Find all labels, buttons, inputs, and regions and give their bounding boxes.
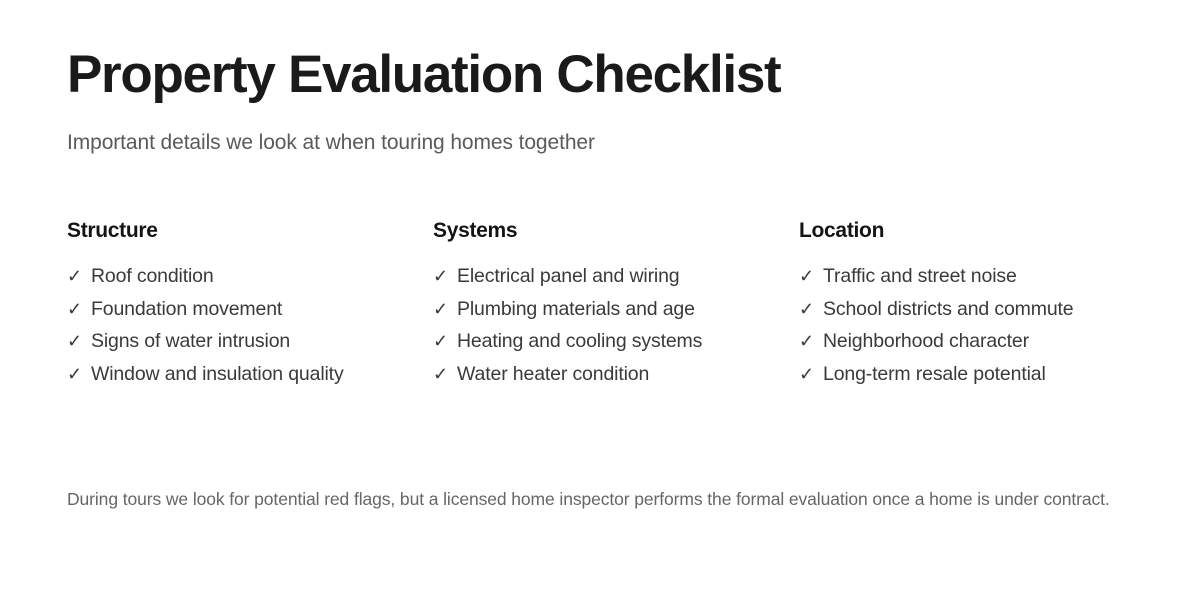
checklist-systems: ✓ Electrical panel and wiring ✓ Plumbing… [433,243,799,390]
check-icon: ✓ [67,325,91,358]
list-item: ✓ Heating and cooling systems [433,325,799,358]
list-item: ✓ Water heater condition [433,358,799,391]
check-icon: ✓ [433,260,457,293]
check-icon: ✓ [67,260,91,293]
checklist-location: ✓ Traffic and street noise ✓ School dist… [799,243,1133,390]
check-icon: ✓ [799,260,823,293]
list-item: ✓ Roof condition [67,260,433,293]
list-item-label: Roof condition [91,260,214,293]
list-item-label: Window and insulation quality [91,358,344,391]
checklist-structure: ✓ Roof condition ✓ Foundation movement ✓… [67,243,433,390]
list-item: ✓ Window and insulation quality [67,358,433,391]
check-icon: ✓ [799,325,823,358]
column-heading: Systems [433,218,799,243]
list-item-label: Long-term resale potential [823,358,1046,391]
list-item: ✓ Neighborhood character [799,325,1133,358]
check-icon: ✓ [799,293,823,326]
list-item-label: Neighborhood character [823,325,1029,358]
check-icon: ✓ [67,358,91,391]
footnote-text: During tours we look for potential red f… [67,487,1112,513]
list-item-label: Signs of water intrusion [91,325,290,358]
checklist-columns: Structure ✓ Roof condition ✓ Foundation … [67,156,1133,390]
check-icon: ✓ [433,325,457,358]
check-icon: ✓ [67,293,91,326]
list-item-label: Plumbing materials and age [457,293,695,326]
list-item: ✓ Traffic and street noise [799,260,1133,293]
page-title: Property Evaluation Checklist [67,44,1133,106]
column-heading: Location [799,218,1133,243]
page-header: Property Evaluation Checklist Important … [67,0,1133,156]
checklist-column-structure: Structure ✓ Roof condition ✓ Foundation … [67,218,433,390]
list-item-label: Heating and cooling systems [457,325,702,358]
list-item: ✓ Electrical panel and wiring [433,260,799,293]
checklist-column-systems: Systems ✓ Electrical panel and wiring ✓ … [433,218,799,390]
list-item: ✓ Foundation movement [67,293,433,326]
checklist-page: Property Evaluation Checklist Important … [0,0,1200,599]
list-item: ✓ Plumbing materials and age [433,293,799,326]
column-heading: Structure [67,218,433,243]
checklist-column-location: Location ✓ Traffic and street noise ✓ Sc… [799,218,1133,390]
list-item-label: School districts and commute [823,293,1074,326]
list-item: ✓ School districts and commute [799,293,1133,326]
list-item-label: Traffic and street noise [823,260,1017,293]
page-subtitle: Important details we look at when tourin… [67,106,1133,156]
check-icon: ✓ [433,358,457,391]
check-icon: ✓ [433,293,457,326]
list-item: ✓ Long-term resale potential [799,358,1133,391]
list-item-label: Foundation movement [91,293,282,326]
list-item-label: Water heater condition [457,358,649,391]
check-icon: ✓ [799,358,823,391]
list-item: ✓ Signs of water intrusion [67,325,433,358]
list-item-label: Electrical panel and wiring [457,260,680,293]
